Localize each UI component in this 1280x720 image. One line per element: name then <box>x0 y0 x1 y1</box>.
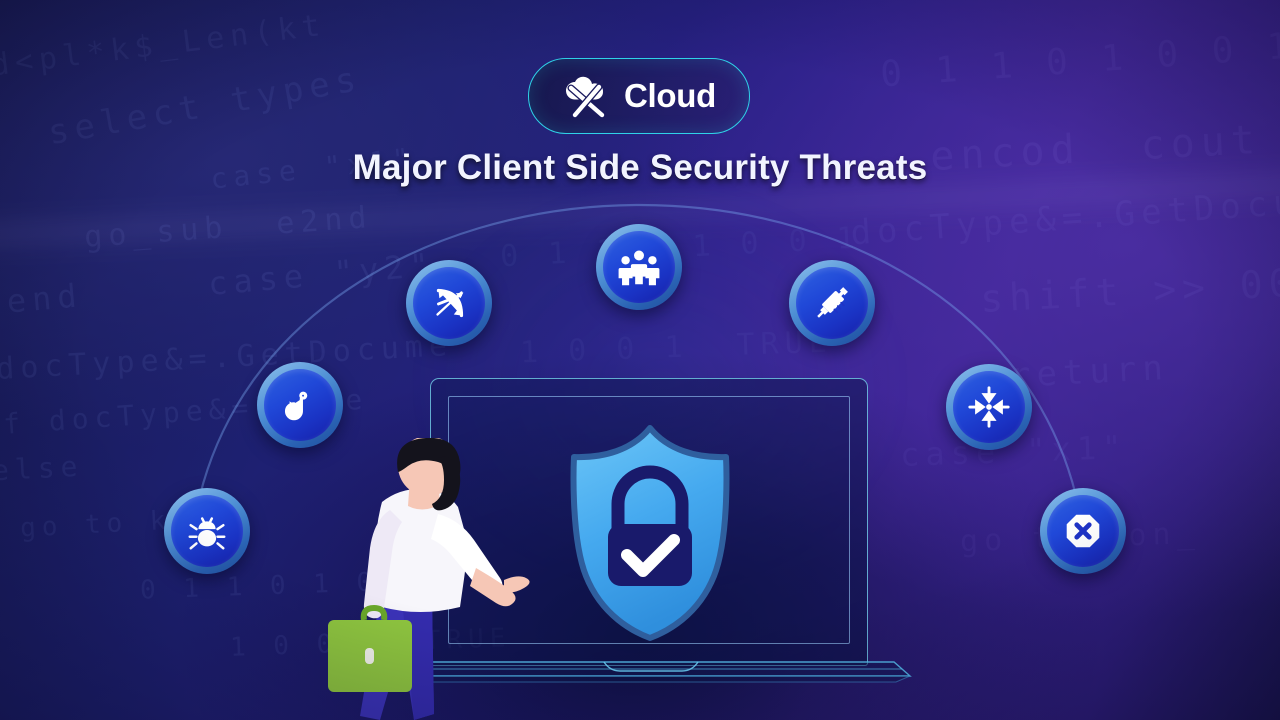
node-disc <box>603 231 675 303</box>
infographic-canvas: d<pl*k$_Len(kt select types case "x1" go… <box>0 0 1280 720</box>
code-line: 1 0 0 1 TRUE <box>519 325 833 371</box>
node-insider-threat[interactable] <box>596 224 682 310</box>
syringe-icon <box>809 280 855 326</box>
code-line: docType&=.GetDocume <box>849 179 1280 254</box>
code-line: docType&=.GetDocume <box>0 328 454 387</box>
person-hand <box>504 576 530 592</box>
cloud-x-logo-icon <box>562 74 614 118</box>
node-phishing[interactable] <box>257 362 343 448</box>
node-malware[interactable] <box>164 488 250 574</box>
businessman-presenting <box>318 438 558 720</box>
converging-arrows-icon <box>966 384 1012 430</box>
code-line: go_sub e2nd <box>83 200 373 255</box>
bow-and-arrow-icon <box>426 280 472 326</box>
octagon-x-icon <box>1060 508 1106 554</box>
node-disc <box>171 495 243 567</box>
code-line: end case "y2" <box>5 245 436 320</box>
shield-with-padlock-check <box>548 424 752 642</box>
code-line: shift >> 001 <box>979 259 1280 321</box>
bug-icon <box>184 508 230 554</box>
node-disc <box>1047 495 1119 567</box>
node-disc <box>413 267 485 339</box>
node-disc <box>264 369 336 441</box>
node-disc <box>796 267 868 339</box>
node-injection-attack[interactable] <box>789 260 875 346</box>
code-line: 0 1 1 0 1 0 0 1 <box>879 26 1280 96</box>
brand-badge[interactable]: Cloud <box>528 58 750 134</box>
node-targeted-attack[interactable] <box>406 260 492 346</box>
group-of-people-icon <box>616 244 662 290</box>
code-line: else <box>0 450 84 488</box>
node-disc <box>953 371 1025 443</box>
code-line: select types <box>45 59 365 154</box>
node-blocked[interactable] <box>1040 488 1126 574</box>
code-line: d<pl*k$_Len(kt <box>0 8 328 84</box>
brand-name: Cloud <box>624 77 716 115</box>
node-ddos-attack[interactable] <box>946 364 1032 450</box>
code-line: return <box>1009 348 1170 396</box>
briefcase-latch <box>365 648 374 664</box>
fish-hook-icon <box>277 382 323 428</box>
page-title: Major Client Side Security Threats <box>0 148 1280 188</box>
